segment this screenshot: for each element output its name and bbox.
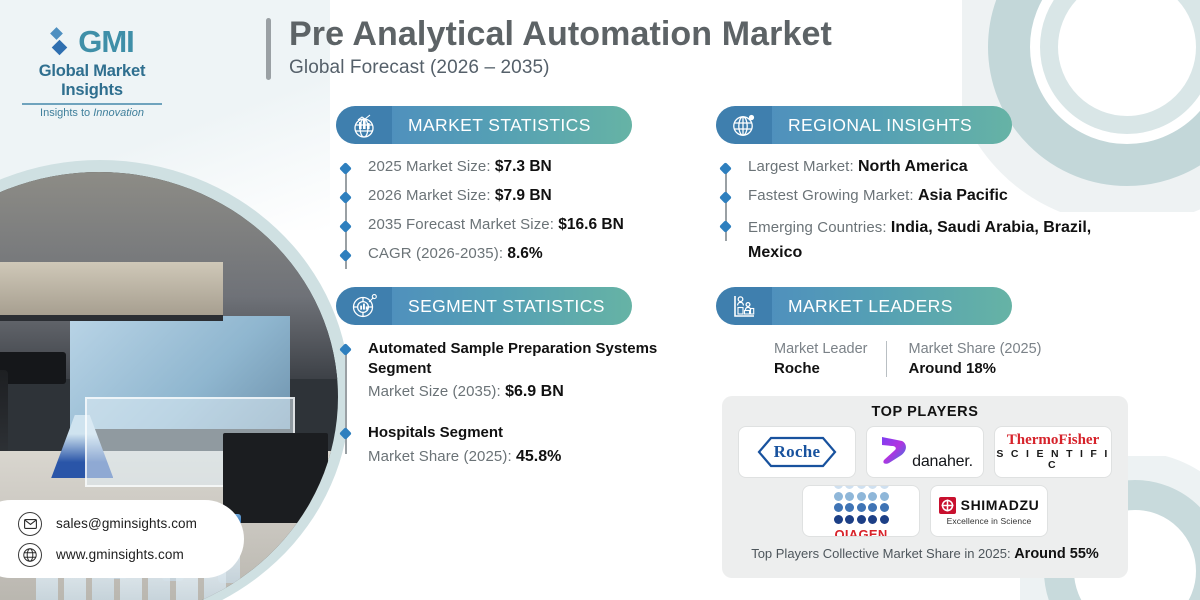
section-market-leaders: MARKET LEADERS Market Leader Roche Marke… [716, 287, 1108, 377]
shimadzu-mark-icon [939, 497, 956, 514]
section-segment-statistics: SEGMENT STATISTICS Automated Sample Prep… [336, 287, 676, 477]
item-label: 2026 Market Size: [368, 187, 495, 204]
collective-market-share: Top Players Collective Market Share in 2… [751, 546, 1099, 562]
list-item: Hospitals Segment Market Share (2025): 4… [368, 423, 676, 466]
gmi-diamond-mark-icon [50, 25, 76, 59]
top-players-row-1: Roche danaher. [738, 426, 1112, 478]
title-accent-rule [266, 18, 271, 80]
list-item: Fastest Growing Market: Asia Pacific [748, 187, 1108, 205]
item-label: 2035 Forecast Market Size: [368, 216, 558, 233]
logo-divider [22, 103, 162, 105]
bullet-diamond-icon [339, 249, 352, 262]
item-label: Market Size (2035): [368, 383, 505, 400]
market-share-value: Around 18% [909, 360, 1042, 377]
contact-website-row[interactable]: www.gminsights.com [18, 543, 244, 567]
podium-leaderboard-icon [716, 287, 772, 325]
envelope-icon [18, 512, 42, 536]
contact-email: sales@gminsights.com [56, 516, 197, 531]
danaher-logo-text: danaher. [912, 453, 973, 471]
item-label: Largest Market: [748, 158, 858, 175]
contact-email-row[interactable]: sales@gminsights.com [18, 512, 244, 536]
list-item: Emerging Countries: India, Saudi Arabia,… [748, 216, 1108, 266]
globe-icon [18, 543, 42, 567]
top-players-title: TOP PLAYERS [871, 404, 978, 420]
bullet-diamond-icon [339, 162, 352, 175]
gmi-company-name: Global Market Insights [12, 62, 172, 100]
item-value: 8.6% [507, 245, 542, 262]
item-value: Asia Pacific [918, 187, 1008, 204]
item-value: North America [858, 158, 968, 175]
market-leader-label: Market Leader [774, 341, 868, 357]
item-value: $7.3 BN [495, 158, 552, 175]
thermofisher-logo-text: ThermoFisher [995, 433, 1111, 449]
item-value: $6.9 BN [505, 383, 564, 400]
player-logo-roche[interactable]: Roche [738, 426, 856, 478]
item-value: $16.6 BN [558, 216, 623, 233]
segment-statistics-list: Automated Sample Preparation Systems Seg… [336, 339, 676, 466]
list-item: 2026 Market Size: $7.9 BN [368, 187, 676, 205]
shimadzu-tagline: Excellence in Science [947, 516, 1032, 526]
list-item: CAGR (2026-2035): 8.6% [368, 245, 676, 263]
list-item: Automated Sample Preparation Systems Seg… [368, 339, 676, 401]
market-statistics-list: 2025 Market Size: $7.3 BN 2026 Market Si… [336, 158, 676, 263]
bullet-diamond-icon [339, 220, 352, 233]
market-share-block: Market Share (2025) Around 18% [886, 341, 1060, 377]
gmi-logo[interactable]: GMI Global Market Insights Insights to I… [12, 24, 172, 119]
regional-insights-heading: REGIONAL INSIGHTS [788, 115, 972, 136]
collective-label: Top Players Collective Market Share in 2… [751, 546, 1014, 561]
contact-info-panel: sales@gminsights.com www.gminsights.com [0, 500, 244, 578]
player-logo-shimadzu[interactable]: SHIMADZU Excellence in Science [930, 485, 1048, 537]
globe-bar-chart-icon [336, 106, 392, 144]
regional-insights-header[interactable]: REGIONAL INSIGHTS [716, 106, 1012, 144]
shimadzu-logo-text: SHIMADZU [961, 497, 1040, 513]
market-leader-summary: Market Leader Roche Market Share (2025) … [716, 341, 1108, 377]
header-title-block: Pre Analytical Automation Market Global … [266, 14, 832, 80]
market-leader-block: Market Leader Roche [774, 341, 886, 377]
danaher-swoosh-icon [877, 432, 909, 472]
qiagen-logo-text: QIAGEN [834, 527, 889, 537]
bullet-diamond-icon [719, 191, 732, 204]
market-leaders-header[interactable]: MARKET LEADERS [716, 287, 1012, 325]
player-logo-thermofisher[interactable]: ThermoFisher S C I E N T I F I C [994, 426, 1112, 478]
page-title: Pre Analytical Automation Market [289, 14, 832, 54]
bullet-diamond-icon [719, 162, 732, 175]
list-item: 2035 Forecast Market Size: $16.6 BN [368, 216, 676, 234]
market-statistics-heading: MARKET STATISTICS [408, 115, 591, 136]
bullet-diamond-icon [719, 220, 732, 233]
section-market-statistics: MARKET STATISTICS 2025 Market Size: $7.3… [336, 106, 676, 274]
qiagen-dot-grid-icon [834, 485, 889, 524]
collective-value: Around 55% [1014, 546, 1099, 562]
gmi-logo-text: GMI [78, 24, 134, 60]
section-regional-insights: REGIONAL INSIGHTS Largest Market: North … [716, 106, 1108, 277]
player-logo-danaher[interactable]: danaher. [866, 426, 984, 478]
segment-statistics-heading: SEGMENT STATISTICS [408, 296, 605, 317]
bullet-diamond-icon [339, 343, 352, 356]
segment-title: Hospitals Segment [368, 423, 676, 443]
list-item: Largest Market: North America [748, 158, 1108, 176]
bullet-diamond-icon [339, 427, 352, 440]
gmi-tagline: Insights to Innovation [12, 107, 172, 119]
item-value: $7.9 BN [495, 187, 552, 204]
item-label: Market Share (2025): [368, 448, 516, 465]
contact-website: www.gminsights.com [56, 547, 184, 562]
segment-title: Automated Sample Preparation Systems Seg… [368, 339, 676, 378]
market-statistics-header[interactable]: MARKET STATISTICS [336, 106, 632, 144]
item-label: 2025 Market Size: [368, 158, 495, 175]
player-logo-qiagen[interactable]: QIAGEN [802, 485, 920, 537]
top-players-panel: TOP PLAYERS Roche [722, 396, 1128, 578]
item-label: Fastest Growing Market: [748, 187, 918, 204]
globe-pin-icon [716, 106, 772, 144]
market-leaders-heading: MARKET LEADERS [788, 296, 953, 317]
top-players-row-2: QIAGEN SHIMADZU Excellence in Scie [802, 485, 1048, 537]
item-label: CAGR (2026-2035): [368, 245, 507, 262]
item-label: Emerging Countries: [748, 219, 891, 236]
page-subtitle: Global Forecast (2026 – 2035) [289, 57, 832, 79]
item-value: 45.8% [516, 448, 561, 465]
pie-chart-target-icon [336, 287, 392, 325]
thermofisher-logo-subtext: S C I E N T I F I C [995, 449, 1111, 471]
segment-statistics-header[interactable]: SEGMENT STATISTICS [336, 287, 632, 325]
roche-logo-text: Roche [774, 442, 821, 462]
market-share-label: Market Share (2025) [909, 341, 1042, 357]
bullet-diamond-icon [339, 191, 352, 204]
market-leader-value: Roche [774, 360, 868, 377]
infographic-canvas: GMI Global Market Insights Insights to I… [0, 0, 1200, 600]
regional-insights-list: Largest Market: North America Fastest Gr… [716, 158, 1108, 266]
list-item: 2025 Market Size: $7.3 BN [368, 158, 676, 176]
